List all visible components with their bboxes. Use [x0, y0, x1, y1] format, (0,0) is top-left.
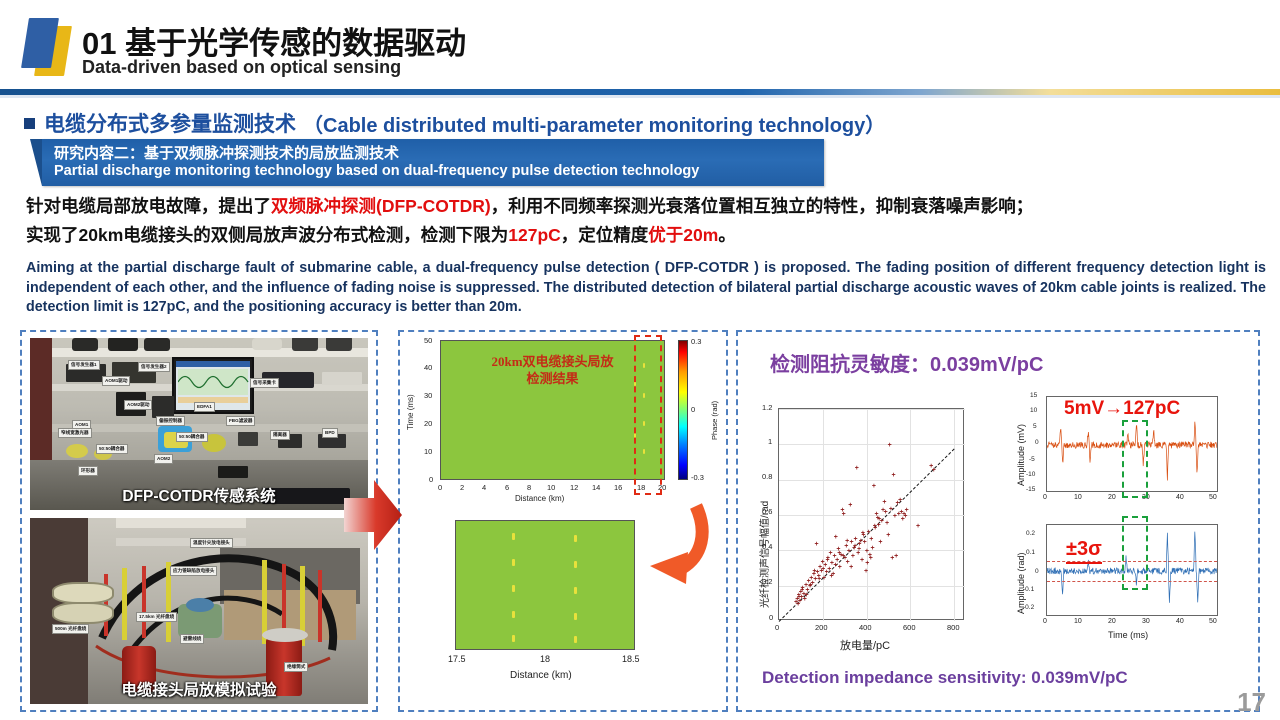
scatter-point: + [892, 472, 896, 479]
photo1-caption: DFP-COTDR传感系统 [30, 484, 368, 506]
heatmap-zoom-xtick-2: 18.5 [622, 654, 640, 664]
cn-l2-part-a: 实现了20km电缆接头的双侧局放声波分布式检测，检测下限为 [26, 225, 508, 245]
scatter-point: + [885, 520, 889, 527]
heatmap-ytick-2: 20 [424, 419, 432, 428]
photo1-label-4: 信号采集卡 [250, 378, 279, 388]
scatter-point: + [869, 536, 873, 543]
wf-mv-xtick-0: 0 [1043, 494, 1047, 501]
page-number: 17 [1237, 687, 1266, 718]
scatter-point: + [871, 545, 875, 552]
scatter-point: + [894, 553, 898, 560]
wf-rad-ytick-3: 0.1 [1026, 549, 1035, 556]
section-bullet-row: 电缆分布式多参量监测技术 （Cable distributed multi-pa… [24, 108, 885, 138]
heatmap-main-xlabel: Distance (km) [515, 494, 564, 503]
colorbar-tick-min: -0.3 [691, 473, 704, 482]
photo1-label-12: 窄线宽激光器 [58, 428, 92, 438]
wf-rad-xtick-3: 30 [1142, 618, 1150, 625]
scatter-point: + [905, 507, 909, 514]
section-bullet-en: （Cable distributed multi-parameter monit… [303, 109, 885, 138]
waveform-rad-highlight-box [1122, 516, 1148, 590]
heatmap-xtick-1: 2 [460, 483, 464, 492]
wf-rad-ytick-0: -0.2 [1023, 604, 1034, 611]
scatter-point: + [898, 497, 902, 504]
scatter-point: + [849, 564, 853, 571]
scatter-point: + [804, 592, 808, 599]
scatter-point: + [872, 483, 876, 490]
sensitivity-title-en: Detection impedance sensitivity: 0.039mV… [762, 668, 1128, 688]
photo1-label-2: AOM1驱动 [102, 376, 130, 386]
scatter-point: + [860, 557, 864, 564]
scatter-point: + [861, 530, 865, 537]
scatter-point: + [829, 573, 833, 580]
heatmap-xtick-3: 6 [505, 483, 509, 492]
header-divider-secondary [0, 95, 1280, 98]
cn-l2-part-c: 。 [718, 225, 736, 245]
wf-mv-ytick-4: 5 [1033, 423, 1037, 430]
scatter-point: + [808, 582, 812, 589]
scatter-point: + [825, 557, 829, 564]
body-text-block: 针对电缆局部放电故障，提出了双频脉冲探测(DFP-COTDR)，利用不同频率探测… [26, 192, 1266, 318]
photo2-label-0: 温度针尖放电接头 [190, 538, 233, 548]
photo1-label-15: 偏振控制器 [156, 416, 185, 426]
photo2-label-5: 绝缘筒式 [284, 662, 308, 672]
subsection-band-en: Partial discharge monitoring technology … [54, 163, 699, 179]
heatmap-xtick-4: 8 [527, 483, 531, 492]
photo-pd-simulation-test: 温度针尖放电接头 应力锥缺陷放电接头 17.5km 光纤盘绕 500m 光纤盘绕… [30, 518, 368, 704]
scatter-point: + [877, 522, 881, 529]
cn-l2-highlight-1: 127pC [508, 225, 561, 245]
wf-rad-xtick-1: 10 [1074, 618, 1082, 625]
scatter-point: + [834, 534, 838, 541]
heatmap-zoom-plot [455, 520, 635, 650]
wf-rad-xtick-4: 40 [1176, 618, 1184, 625]
bullet-square-icon [24, 118, 35, 129]
scatter-point: + [838, 564, 842, 571]
scatter-point: + [857, 546, 861, 553]
body-en-paragraph: Aiming at the partial discharge fault of… [26, 259, 1266, 318]
scatter-point: + [867, 529, 871, 536]
scatter-point: + [815, 541, 819, 548]
photo2-label-3: 500m 光纤盘绕 [52, 624, 89, 634]
scatter-ytick-0: 0 [769, 613, 773, 622]
cn-l1-highlight: 双频脉冲探测(DFP-COTDR) [271, 196, 491, 216]
cn-l2-part-b: ，定位精度 [561, 225, 649, 245]
scatter-point: + [845, 538, 849, 545]
scatter-point: + [888, 442, 892, 449]
photo1-label-13: BPD [322, 428, 338, 438]
photo2-label-1: 应力锥缺陷放电接头 [170, 566, 217, 576]
wf-mv-ytick-5: 10 [1030, 407, 1037, 414]
brand-logo-icon [18, 14, 76, 80]
scatter-xtick-3: 600 [903, 623, 916, 632]
wf-mv-ytick-1: -10 [1026, 471, 1035, 478]
photo1-label-9: 环形器 [78, 466, 98, 476]
scatter-point: + [886, 532, 890, 539]
slide: 01 基于光学传感的数据驱动 Data-driven based on opti… [0, 0, 1280, 720]
photo2-label-4: 避雷线绕 [180, 634, 204, 644]
heatmap-xtick-5: 10 [547, 483, 555, 492]
scatter-point: + [932, 467, 936, 474]
scatter-ylabel: 光纤检测声信号幅值/rad [756, 501, 771, 608]
sensitivity-title-cn: 检测阻抗灵敏度：0.039mV/pC [770, 348, 1043, 377]
heatmap-colorbar-label: Phase (rad) [710, 401, 719, 440]
subsection-band-cn: 研究内容二：基于双频脉冲探测技术的局放监测技术 [54, 142, 399, 163]
scatter-point: + [869, 555, 873, 562]
wf-rad-ytick-2: 0 [1035, 568, 1039, 575]
scatter-point: + [797, 594, 801, 601]
scatter-point: + [878, 539, 882, 546]
heatmap-overlay-line-2: 检测结果 [441, 370, 664, 387]
wf-mv-xtick-1: 10 [1074, 494, 1082, 501]
wf-mv-ytick-0: -15 [1026, 486, 1035, 493]
heatmap-highlight-box [634, 335, 662, 495]
cn-l2-highlight-2: 优于20m [648, 225, 718, 245]
page-subtitle: Data-driven based on optical sensing [82, 57, 401, 78]
scatter-point: + [855, 465, 859, 472]
scatter-ytick-4: 0.8 [762, 472, 772, 481]
scatter-point: + [863, 539, 867, 546]
wf-mv-ytick-3: 0 [1035, 439, 1039, 446]
cn-l1-part-a: 针对电缆局部放电故障，提出了 [26, 196, 271, 216]
heatmap-xtick-0: 0 [438, 483, 442, 492]
heatmap-colorbar [678, 340, 688, 480]
scatter-point: + [833, 562, 837, 569]
scatter-xtick-2: 400 [859, 623, 872, 632]
heatmap-ytick-3: 30 [424, 391, 432, 400]
scatter-point: + [842, 511, 846, 518]
scatter-point: + [821, 566, 825, 573]
wf-rad-ytick-1: -0.1 [1023, 586, 1034, 593]
wf-rad-xtick-5: 50 [1209, 618, 1217, 625]
colorbar-tick-mid: 0 [691, 405, 695, 414]
heatmap-main-overlay-title: 20km双电缆接头局放 检测结果 [441, 353, 664, 387]
heatmap-ytick-1: 10 [424, 447, 432, 456]
scatter-point: + [848, 502, 852, 509]
scatter-point: + [889, 506, 893, 513]
heatmap-main-ylabel: Time (ms) [406, 394, 415, 430]
colorbar-tick-max: 0.3 [691, 337, 701, 346]
heatmap-main-plot: 20km双电缆接头局放 检测结果 [440, 340, 665, 480]
scatter-ytick-6: 1.2 [762, 403, 772, 412]
photo1-label-11: 50:50耦合器 [176, 432, 208, 442]
heatmap-ytick-0: 0 [429, 475, 433, 484]
subsection-band: 研究内容二：基于双频脉冲探测技术的局放监测技术 Partial discharg… [42, 139, 824, 186]
heatmap-zoom-xtick-1: 18 [540, 654, 550, 664]
body-cn-line-1: 针对电缆局部放电故障，提出了双频脉冲探测(DFP-COTDR)，利用不同频率探测… [26, 192, 1266, 221]
waveform-mv-annotation: 5mV→127pC [1064, 398, 1180, 420]
scatter-point: + [864, 568, 868, 575]
heatmap-xtick-7: 14 [592, 483, 600, 492]
photo1-label-8: AOM2 [154, 454, 173, 464]
heatmap-ytick-4: 40 [424, 363, 432, 372]
heatmap-zoom-xlabel: Distance (km) [510, 670, 572, 681]
section-bullet-cn: 电缆分布式多参量监测技术 [44, 108, 296, 138]
photo1-label-14: 隔离器 [270, 430, 290, 440]
wf-mv-xtick-5: 50 [1209, 494, 1217, 501]
scatter-point: + [865, 548, 869, 555]
wf-mv-xtick-4: 40 [1176, 494, 1184, 501]
scatter-point: + [812, 568, 816, 575]
wf-rad-xtick-2: 20 [1108, 618, 1116, 625]
scatter-xtick-1: 200 [815, 623, 828, 632]
photo1-label-3: AOM2驱动 [124, 400, 152, 410]
wf-mv-xtick-2: 20 [1108, 494, 1116, 501]
heatmap-overlay-line-1: 20km双电缆接头局放 [441, 353, 664, 370]
wf-rad-ytick-4: 0.2 [1026, 530, 1035, 537]
photo2-label-2: 17.5km 光纤盘绕 [136, 612, 177, 622]
scatter-ytick-5: 1 [768, 437, 772, 446]
waveform-rad-annotation: ±3σ [1066, 538, 1102, 564]
waveform-rad-xlabel: Time (ms) [1108, 630, 1148, 640]
photo1-label-10: 50:50耦合器 [96, 444, 128, 454]
scatter-xtick-0: 0 [775, 623, 779, 632]
heatmap-xtick-6: 12 [570, 483, 578, 492]
heatmap-zoom-xtick-0: 17.5 [448, 654, 466, 664]
scatter-point: + [851, 553, 855, 560]
scatter-point: + [841, 553, 845, 560]
body-cn-line-2: 实现了20km电缆接头的双侧局放声波分布式检测，检测下限为127pC，定位精度优… [26, 221, 1266, 250]
waveform-mv-highlight-box [1122, 420, 1148, 498]
cn-l1-part-b: ，利用不同频率探测光衰落位置相互独立的特性，抑制衰落噪声影响； [491, 196, 1034, 216]
wf-rad-xtick-0: 0 [1043, 618, 1047, 625]
scatter-point: + [916, 523, 920, 530]
heatmap-xtick-2: 4 [482, 483, 486, 492]
wf-mv-ytick-2: -5 [1029, 456, 1035, 463]
heatmap-xtick-8: 16 [614, 483, 622, 492]
scatter-xlabel: 放电量/pC [840, 637, 890, 653]
heatmap-ytick-5: 50 [424, 336, 432, 345]
scatter-plot-area: ++++++++++++++++++++++++++++++++++++++++… [778, 408, 964, 620]
photo2-caption: 电缆接头局放模拟试验 [30, 678, 368, 700]
scatter-point: + [884, 509, 888, 516]
photo1-label-6: FBG滤波器 [226, 416, 255, 426]
scatter-xtick-4: 800 [947, 623, 960, 632]
wf-mv-ytick-6: 15 [1030, 392, 1037, 399]
photo1-label-1: 信号发生器2 [138, 362, 170, 372]
scatter-point: + [817, 576, 821, 583]
scatter-point: + [882, 499, 886, 506]
photo-dfp-cotdr-system: 信号发生器1 信号发生器2 AOM1驱动 AOM2驱动 信号采集卡 EDFA1 … [30, 338, 368, 510]
waveform-mv-ylabel: Amplitude (mV) [1016, 424, 1026, 486]
photo1-label-5: EDFA1 [194, 402, 215, 412]
photo1-label-0: 信号发生器1 [68, 360, 100, 370]
